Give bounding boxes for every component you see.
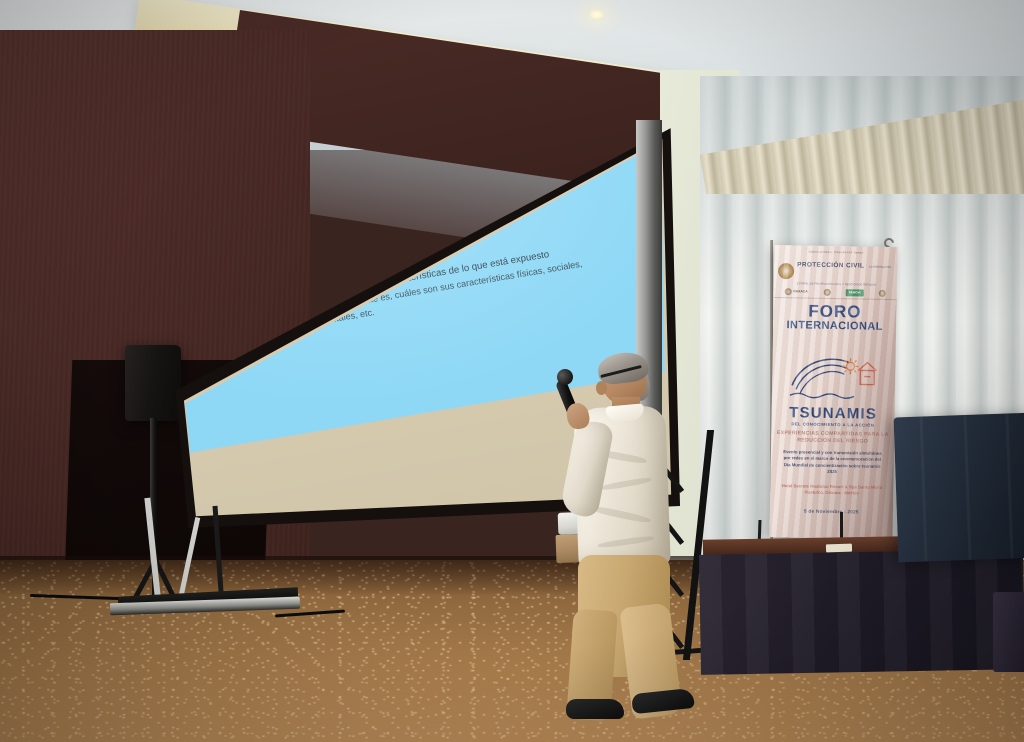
conference-room-photo: Gobierno de México Seguridad CENAPRED Id… — [0, 0, 1024, 742]
banner-description: Evento presencial y con transmisión simu… — [780, 449, 885, 477]
drape-fold — [919, 416, 927, 561]
seguridad-label: Seguridad — [447, 65, 491, 84]
event-banner: Gobierno de México · Protección Civil · … — [769, 245, 897, 539]
org-logo-2 — [823, 288, 830, 295]
building-icon — [240, 257, 263, 278]
slide-header-logos: Gobierno de México Seguridad CENAPRED — [377, 48, 580, 96]
proteccion-civil-seal-icon — [778, 263, 794, 279]
banner-tagline: DEL CONOCIMIENTO A LA ACCIÓN — [771, 421, 894, 428]
org-logo-oaxaca: OAXACA — [784, 288, 807, 295]
donut-highlight-segment — [160, 132, 323, 316]
drape-fold — [1005, 413, 1013, 558]
banner-foro-line2: INTERNACIONAL — [773, 319, 896, 333]
tower-icon — [210, 274, 233, 297]
mexico-logo-sub: Gobierno de — [391, 74, 426, 84]
org-logo-semovi: SEMOVI — [846, 289, 864, 296]
risk-cycle-donut — [160, 137, 319, 312]
banner-date: 5 de Noviembre - 2025 — [770, 508, 893, 515]
org-label: OAXACA — [793, 289, 808, 293]
stage-paper — [826, 544, 852, 553]
gobierno-mexico-logo: Gobierno de México — [377, 74, 428, 96]
org-seal-icon — [823, 288, 830, 295]
ieea-seal-icon — [879, 289, 886, 296]
shirt-fold — [591, 505, 651, 524]
banner-org-logos: OAXACA SEMOVI — [774, 285, 897, 300]
slide-body-list: 1. Es necesario el conocimiento sobre lo… — [259, 96, 680, 333]
waste-bin — [993, 592, 1024, 672]
donut-ring — [160, 137, 319, 312]
mexico-logo-main: México — [392, 78, 428, 94]
banner-venue: Hotel Secrets Huatulco Resort & Spa Sant… — [776, 483, 887, 498]
presenter — [540, 355, 730, 710]
slide-title: Identificación de riesgos (peligros, vul… — [206, 63, 654, 166]
document-icon — [254, 191, 274, 211]
shirt-fold — [598, 535, 654, 549]
banner-foro-block: FORO INTERNACIONAL — [773, 302, 896, 333]
banner-header: PROTECCIÓN CIVIL COORDINACIÓN ESTATAL DE… — [774, 256, 898, 288]
clipboard-icon — [258, 226, 276, 244]
magnifier-pulse-icon — [230, 153, 265, 188]
banner-subtitle: EXPERIENCIAS COMPARTIDAS PARA LA REDUCCI… — [771, 430, 894, 446]
downlight-icon — [588, 9, 605, 20]
logo-divider — [499, 62, 502, 76]
stage-skirt — [699, 549, 1024, 675]
org-logo-ieea — [879, 289, 886, 296]
banner-foro-line1: FORO — [773, 302, 896, 321]
cenapred-seal-icon — [510, 60, 523, 73]
cenapred-label: CENAPRED — [524, 51, 580, 70]
presenter-shoe-back — [566, 699, 624, 719]
presenter-ear — [596, 381, 607, 395]
tsunami-wave-illustration — [786, 345, 883, 403]
drape-fold — [963, 415, 971, 560]
shirt-fold — [600, 476, 652, 491]
cenapred-logo: CENAPRED — [510, 50, 580, 72]
curtain-valance — [700, 98, 1024, 194]
draped-table — [894, 413, 1024, 563]
logo-divider — [436, 72, 439, 86]
banner-title: TSUNAMIS — [772, 405, 895, 422]
mexico-seal-icon — [378, 82, 391, 95]
banner-header-title: PROTECCIÓN CIVIL — [797, 261, 864, 269]
oaxaca-seal-icon — [784, 288, 791, 295]
